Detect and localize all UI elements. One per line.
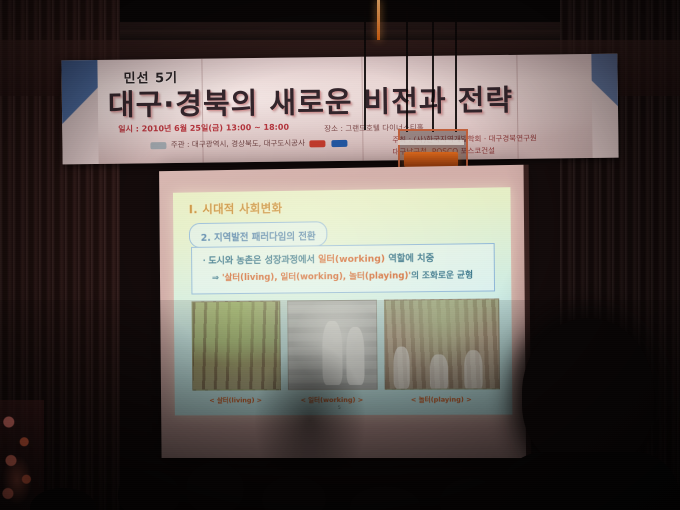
bullet-1-suffix: 역할에 치중 bbox=[385, 253, 434, 265]
rig-cable bbox=[364, 10, 366, 130]
sponsor-logo-red bbox=[309, 140, 325, 147]
bullet-2-suffix: 의 조화로운 균형 bbox=[411, 271, 473, 282]
audience-head bbox=[186, 462, 244, 510]
banner-host-line: 주관 : 대구광역시, 경상북도, 대구도시공사 bbox=[148, 137, 349, 150]
flower-highlight bbox=[2, 455, 32, 505]
slide-subsection-label: 2. 지역발전 패러다임의 전환 bbox=[201, 231, 316, 243]
projected-shadow bbox=[255, 345, 365, 470]
bullet-1-prefix: ㆍ도시와 농촌은 성장과정에서 bbox=[200, 254, 318, 266]
slide-bullet-2: ⇒ '살터(living), 일터(working), 놀터(playing)'… bbox=[212, 268, 473, 283]
slide-body-box: ㆍ도시와 농촌은 성장과정에서 일터(working) 역할에 치중 ⇒ '살터… bbox=[191, 243, 495, 294]
rig-cable bbox=[455, 0, 457, 132]
bullet-2-prefix: ⇒ bbox=[212, 273, 222, 283]
rig-cable bbox=[432, 0, 434, 132]
sponsor-logo-grey bbox=[150, 142, 166, 149]
hanging-light-glow bbox=[377, 0, 380, 40]
banner-date-line: 일시 : 2010년 6월 25일(금) 13:00 ~ 18:00 bbox=[118, 122, 289, 135]
bullet-1-highlight: 일터(working) bbox=[318, 253, 385, 265]
foreground-audience-shoulders bbox=[498, 452, 680, 510]
bullet-2-highlight: '살터(living), 일터(working), 놀터(playing)' bbox=[222, 271, 411, 283]
stage-lamp bbox=[404, 152, 458, 167]
slide-subsection-box: 2. 지역발전 패러다임의 전환 bbox=[189, 221, 328, 248]
sponsor-logo-blue bbox=[332, 139, 348, 146]
audience-head bbox=[118, 470, 180, 510]
slide-section-title: Ⅰ. 시대적 사회변화 bbox=[189, 200, 283, 217]
slide-bullet-1: ㆍ도시와 농촌은 성장과정에서 일터(working) 역할에 치중 bbox=[200, 250, 434, 267]
rig-cable bbox=[406, 0, 408, 132]
banner-corner-left bbox=[61, 60, 98, 164]
foreground-audience-head bbox=[522, 318, 654, 468]
banner-host-text: 주관 : 대구광역시, 경상북도, 대구도시공사 bbox=[171, 138, 305, 149]
conference-hall-photo: 민선 5기 대구·경북의 새로운 비전과 전략 일시 : 2010년 6월 25… bbox=[0, 0, 680, 510]
rig-cross-bar bbox=[398, 140, 464, 145]
banner-title: 대구·경북의 새로운 비전과 전략 bbox=[108, 76, 608, 124]
event-banner: 민선 5기 대구·경북의 새로운 비전과 전략 일시 : 2010년 6월 25… bbox=[61, 54, 618, 165]
